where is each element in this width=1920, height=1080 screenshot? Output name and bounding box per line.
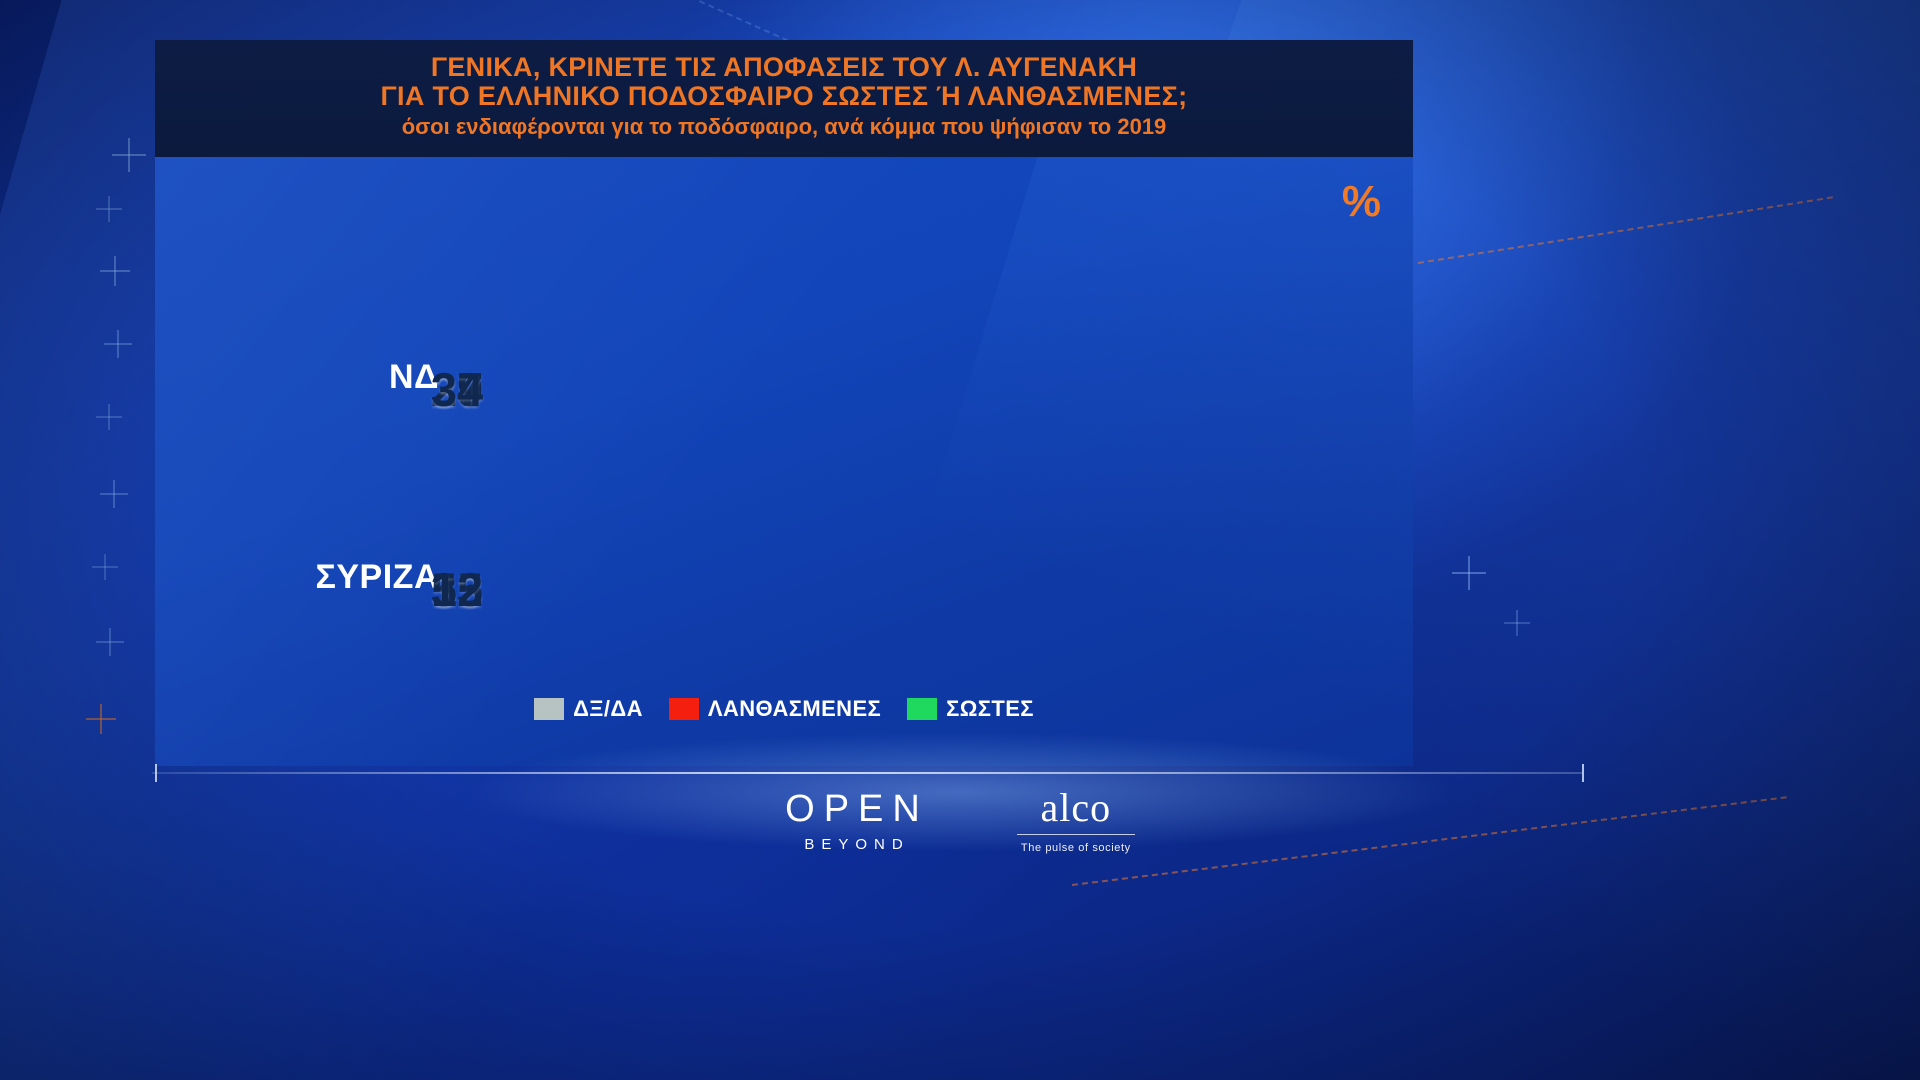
chart-legend: ΔΞ/ΔΑ ΛΑΝΘΑΣΜΕΝΕΣ ΣΩΣΤΕΣ [155,696,1413,722]
legend-swatch-icon [534,698,564,720]
bar-value: 12 [431,562,483,617]
open-beyond-logo: OPEN BEYOND [785,790,929,853]
legend-item-dk[interactable]: ΔΞ/ΔΑ [534,696,643,722]
alco-logo: alco The pulse of society [1017,788,1135,854]
percent-unit-label: % [1342,177,1381,227]
panel-sheen [795,157,1413,766]
bar-row-nd: ΝΔ 29 37 [457,330,1233,454]
legend-label: ΛΑΝΘΑΣΜΕΝΕΣ [708,696,881,722]
chart-panel: % ΝΔ 29 37 [155,157,1413,766]
open-logo-text: OPEN [785,790,929,828]
footer-divider [152,772,1582,774]
footer-logos: OPEN BEYOND alco The pulse of society [0,788,1920,854]
subtitle-line: όσοι ενδιαφέρονται για το ποδόσφαιρο, αν… [155,115,1413,138]
title-line-2: ΓΙΑ ΤΟ ΕΛΛΗΝΙΚΟ ΠΟΔΟΣΦΑΙΡΟ ΣΩΣΤΕΣ Ή ΛΑΝΘ… [155,82,1413,111]
footer-tick-right [1582,764,1584,782]
footer: OPEN BEYOND alco The pulse of society [0,766,1920,1080]
legend-item-wrong[interactable]: ΛΑΝΘΑΣΜΕΝΕΣ [669,696,881,722]
bar-value: 34 [431,362,483,417]
alco-logo-text: alco [1017,788,1135,828]
beyond-logo-text: BEYOND [785,836,929,853]
legend-swatch-icon [907,698,937,720]
legend-item-right[interactable]: ΣΩΣΤΕΣ [907,696,1034,722]
legend-label: ΔΞ/ΔΑ [573,696,643,722]
poll-card: ΓΕΝΙΚΑ, ΚΡΙΝΕΤΕ ΤΙΣ ΑΠΟΦΑΣΕΙΣ ΤΟΥ Λ. ΑΥΓ… [155,40,1413,766]
bar-row-syriza: ΣΥΡΙΖΑ 35 53 [457,530,1233,654]
title-banner: ΓΕΝΙΚΑ, ΚΡΙΝΕΤΕ ΤΙΣ ΑΠΟΦΑΣΕΙΣ ΤΟΥ Λ. ΑΥΓ… [155,40,1413,157]
bar-row-label: ΣΥΡΙΖΑ [315,558,439,597]
alco-tagline: The pulse of society [1017,842,1135,854]
alco-logo-rule [1017,834,1135,835]
footer-tick-left [155,764,157,782]
legend-swatch-icon [669,698,699,720]
title-line-1: ΓΕΝΙΚΑ, ΚΡΙΝΕΤΕ ΤΙΣ ΑΠΟΦΑΣΕΙΣ ΤΟΥ Λ. ΑΥΓ… [155,53,1413,82]
legend-label: ΣΩΣΤΕΣ [946,696,1034,722]
